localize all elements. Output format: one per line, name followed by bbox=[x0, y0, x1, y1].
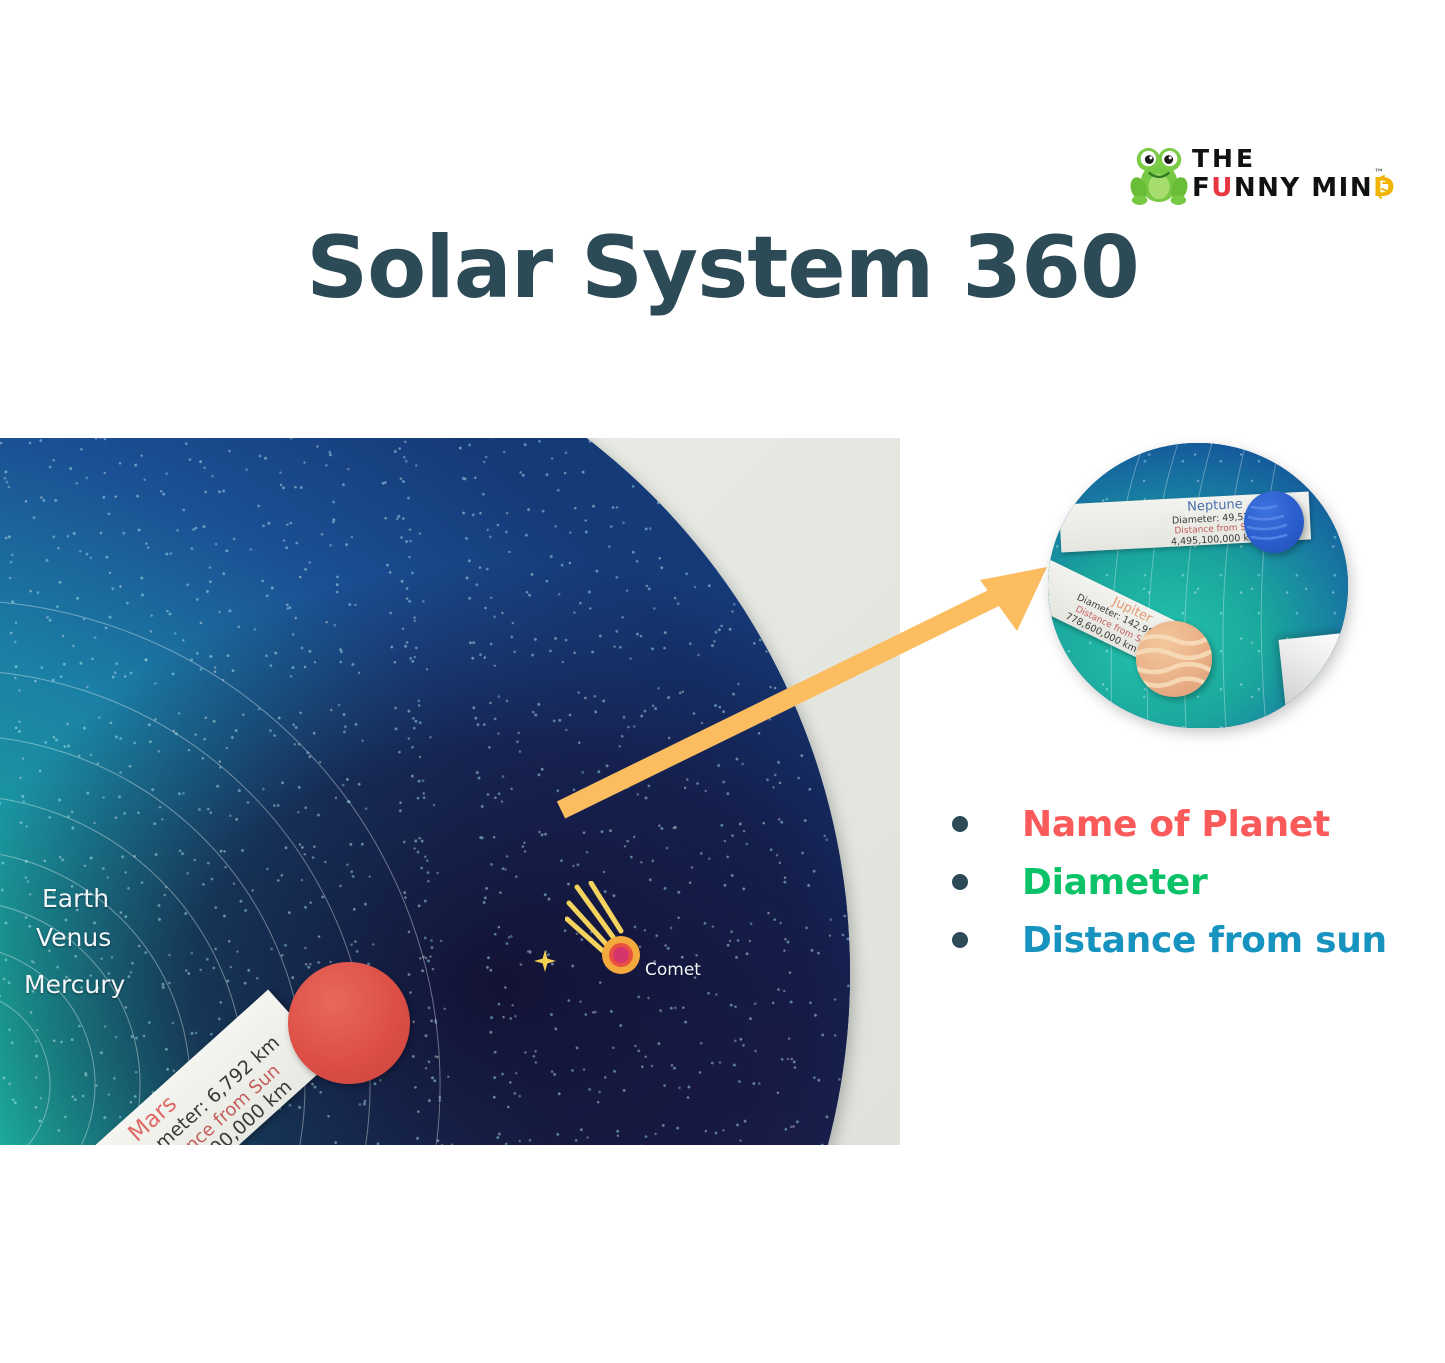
bullet-dot bbox=[952, 816, 968, 832]
inset-planet-neptune bbox=[1244, 491, 1304, 553]
logo-text-the: THE bbox=[1192, 144, 1256, 173]
ring-label-mercury: Mercury bbox=[24, 970, 125, 999]
list-item: Name of Planet bbox=[952, 795, 1432, 853]
list-item: Diameter bbox=[952, 853, 1432, 911]
bullet-dot bbox=[952, 932, 968, 948]
solar-system-disc bbox=[0, 438, 884, 1145]
planet-mars bbox=[288, 962, 410, 1084]
logo-trademark: ™ bbox=[1374, 168, 1384, 179]
inset-planet-jupiter bbox=[1136, 621, 1212, 697]
comet-label: Comet bbox=[645, 960, 701, 980]
bullet-label-diameter: Diameter bbox=[1022, 862, 1207, 903]
comet-icon bbox=[565, 881, 655, 981]
ring-label-earth: Earth bbox=[42, 884, 109, 913]
logo-u: U bbox=[1211, 173, 1234, 203]
poster-canvas: THE FUNNY MIND ™ Solar System 360 bbox=[0, 0, 1445, 1363]
bullet-label-name-of-planet: Name of Planet bbox=[1022, 804, 1330, 845]
product-photo: Comet Space Rocket Earth Venus Mercury bbox=[0, 438, 900, 1145]
inset-clip: Neptune Diameter: 49,528 km Distance fro… bbox=[1048, 443, 1348, 728]
logo-f: F bbox=[1192, 173, 1211, 203]
list-item: Distance from sun bbox=[952, 911, 1432, 969]
sparkle-star-icon bbox=[534, 950, 556, 972]
logo-mid: NNY MIN bbox=[1234, 173, 1373, 203]
ring-label-venus: Venus bbox=[36, 923, 111, 952]
frog-icon bbox=[1130, 144, 1188, 206]
bullet-dot bbox=[952, 874, 968, 890]
brand-logo: THE FUNNY MIND ™ bbox=[1126, 142, 1388, 208]
page-title: Solar System 360 bbox=[0, 218, 1445, 318]
feature-list: Name of Planet Diameter Distance from su… bbox=[952, 795, 1432, 969]
zoom-inset: Neptune Diameter: 49,528 km Distance fro… bbox=[1048, 443, 1348, 728]
bullet-label-distance-from-sun: Distance from sun bbox=[1022, 920, 1387, 961]
